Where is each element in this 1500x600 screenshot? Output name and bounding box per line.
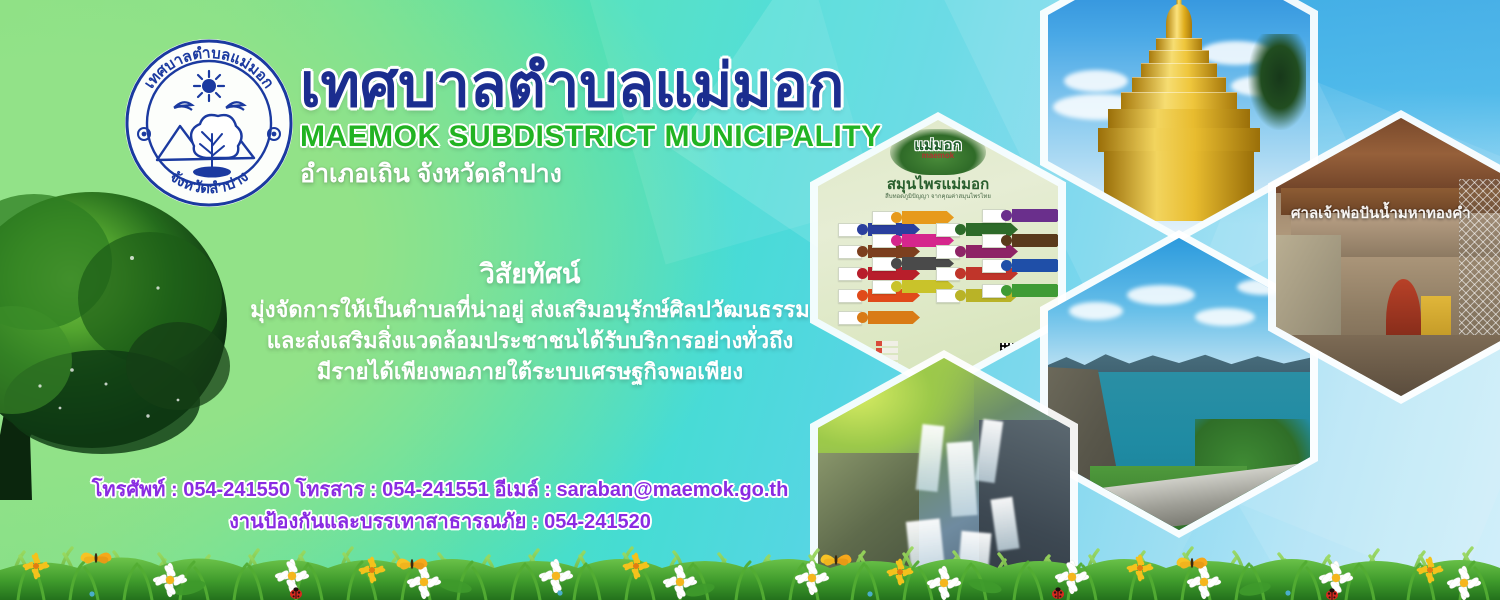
shrine-overlay-text: ศาลเจ้าพ่อปันน้ำมหาทองคำ bbox=[1291, 201, 1471, 225]
municipality-seal-logo: เทศบาลตำบลแม่มอก จังหวัดลำปาง bbox=[124, 38, 294, 208]
header-text-block: เทศบาลตำบลแม่มอก MAEMOK SUBDISTRICT MUNI… bbox=[300, 56, 882, 189]
grass-flower-border bbox=[0, 508, 1500, 600]
page-title-thai: เทศบาลตำบลแม่มอก bbox=[300, 56, 882, 116]
municipality-banner: เทศบาลตำบลแม่มอก จังหวัดลำปาง เทศบาลตำบล… bbox=[0, 0, 1500, 600]
herbal-product-grid bbox=[838, 206, 1038, 328]
hexagon-photo-collage: แม่มอก maemok สมุนไพรแม่มอก สืบทอดภูมิปั… bbox=[800, 0, 1500, 580]
herbal-logo-subtext: maemok bbox=[922, 151, 954, 160]
herbal-poster-subtitle: สืบทอดภูมิปัญญา จากคุณค่าสมุนไพรไทย bbox=[818, 191, 1058, 201]
contact-line-phone-fax-email[interactable]: โทรศัพท์ : 054-241550 โทรสาร : 054-24155… bbox=[40, 474, 840, 506]
vision-line-2: และส่งเสริมสิ่งแวดล้อมประชาชนได้รับบริกา… bbox=[230, 325, 830, 356]
page-title-english: MAEMOK SUBDISTRICT MUNICIPALITY bbox=[300, 120, 882, 153]
vision-line-3: มีรายได้เพียงพอภายใต้ระบบเศรษฐกิจพอเพียง bbox=[230, 356, 830, 387]
vision-heading: วิสัยทัศน์ bbox=[230, 258, 830, 292]
vision-block: วิสัยทัศน์ มุ่งจัดการให้เป็นตำบลที่น่าอย… bbox=[230, 258, 830, 387]
vision-line-1: มุ่งจัดการให้เป็นตำบลที่น่าอยู่ ส่งเสริม… bbox=[230, 294, 830, 325]
page-subtitle-location: อำเภอเถิน จังหวัดลำปาง bbox=[300, 159, 882, 189]
